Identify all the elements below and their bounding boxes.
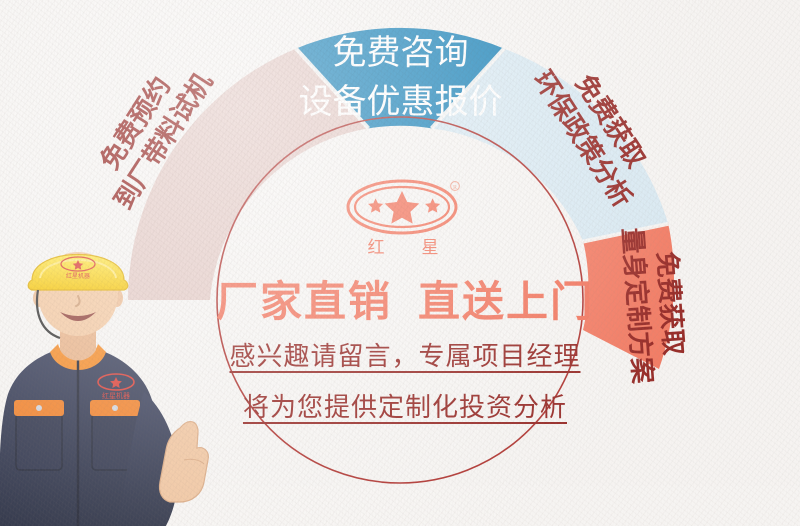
arc-label-top-line1: 免费咨询 [283, 32, 518, 75]
headline[interactable]: 厂家直销直送上门 [170, 280, 640, 324]
subtext-line1[interactable]: 感兴趣请留言，专属项目经理 [170, 336, 640, 373]
subtext-line2[interactable]: 将为您提供定制化投资分析 [170, 387, 640, 424]
worker-button-right [112, 405, 118, 411]
worker-pocket-left [16, 408, 62, 470]
svg-text:红星机器: 红星机器 [66, 272, 90, 280]
hongxing-logo-icon: R 红 星 [340, 175, 470, 261]
svg-text:R: R [453, 185, 457, 191]
smiling-worker-thumbs-up: 红星机器 红星机器 [0, 232, 224, 526]
svg-text:红星机器: 红星机器 [102, 391, 130, 400]
headline-part1: 厂家直销 [216, 277, 392, 326]
worker-button-left [36, 405, 42, 411]
brand-logo[interactable]: R 红 星 [340, 175, 470, 261]
promo-banner: 免费预约 到厂带料试机 免费咨询 设备优惠报价 免费获取 环保政策分析 免费获取… [0, 0, 800, 526]
logo-char-xing: 星 [422, 238, 439, 258]
arc-label-free-consult[interactable]: 免费咨询 设备优惠报价 [283, 32, 518, 123]
headline-part2: 直送上门 [418, 277, 594, 326]
arc-label-top-line2: 设备优惠报价 [283, 81, 518, 124]
logo-char-hong: 红 [368, 238, 385, 258]
